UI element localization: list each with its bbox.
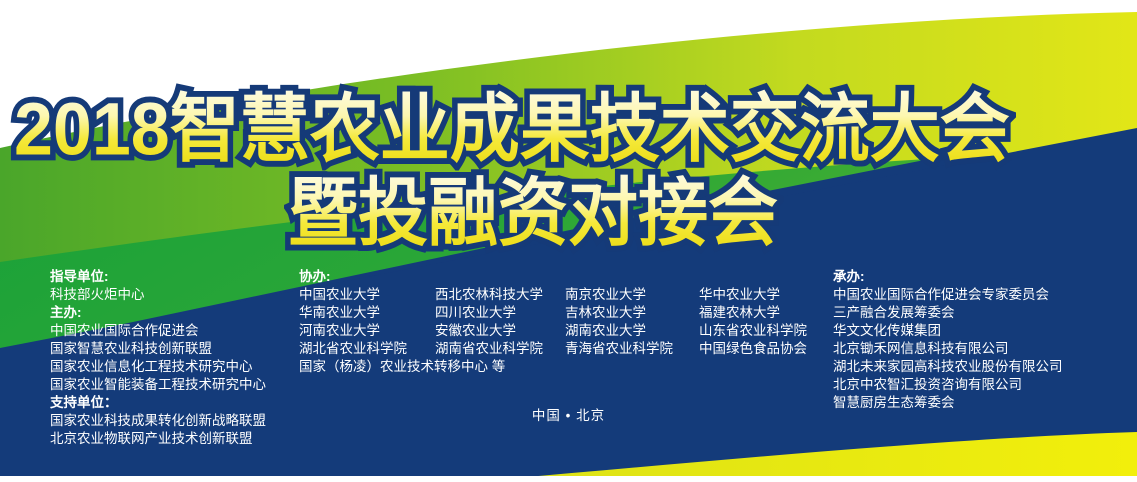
coorganizer-cell: 湖南省农业科学院 <box>435 340 565 358</box>
organizer-item-0: 中国农业国际合作促进会专家委员会 <box>833 286 1063 304</box>
coorganizer-cell: 湖南农业大学 <box>565 322 699 340</box>
coorganizer-cell: 四川农业大学 <box>435 304 565 322</box>
host-item-2: 国家农业信息化工程技术研究中心 <box>50 358 266 376</box>
organizer-item-3: 北京锄禾网信息科技有限公司 <box>833 340 1063 358</box>
coorganizer-cell: 吉林农业大学 <box>565 304 699 322</box>
guidance-item-0: 科技部火炬中心 <box>50 286 266 304</box>
coorganizer-row: 中国农业大学 西北农林科技大学 南京农业大学 华中农业大学 <box>299 286 829 304</box>
coorganizer-cell: 河南农业大学 <box>299 322 435 340</box>
coorganizer-cell: 国家（杨凌）农业技术转移中心 等 <box>299 358 505 376</box>
organizer-item-2: 华文文化传媒集团 <box>833 322 1063 340</box>
coorganizer-cell: 华中农业大学 <box>699 286 829 304</box>
conference-banner: 2018智慧农业成果技术交流大会 2018智慧农业成果技术交流大会 暨投融资对接… <box>0 0 1137 482</box>
host-heading: 主办: <box>50 304 266 322</box>
coorganizer-row: 河南农业大学 安徽农业大学 湖南农业大学 山东省农业科学院 <box>299 322 829 340</box>
host-item-0: 中国农业国际合作促进会 <box>50 322 266 340</box>
coorganizer-column: 协办: 中国农业大学 西北农林科技大学 南京农业大学 华中农业大学 华南农业大学… <box>299 268 829 376</box>
organizer-item-4: 湖北未来家园高科技农业股份有限公司 <box>833 358 1063 376</box>
coorganizer-row-last: 国家（杨凌）农业技术转移中心 等 <box>299 358 829 376</box>
coorganizer-cell: 华南农业大学 <box>299 304 435 322</box>
coorganizer-row: 湖北省农业科学院 湖南省农业科学院 青海省农业科学院 中国绿色食品协会 <box>299 340 829 358</box>
coorganizer-cell: 南京农业大学 <box>565 286 699 304</box>
coorganizer-cell: 湖北省农业科学院 <box>299 340 435 358</box>
host-item-3: 国家农业智能装备工程技术研究中心 <box>50 376 266 394</box>
coorganizer-row: 华南农业大学 四川农业大学 吉林农业大学 福建农林大学 <box>299 304 829 322</box>
coorganizer-cell: 福建农林大学 <box>699 304 829 322</box>
coorganizer-cell: 山东省农业科学院 <box>699 322 829 340</box>
coorganizer-heading: 协办: <box>299 268 829 286</box>
coorganizer-cell: 中国绿色食品协会 <box>699 340 829 358</box>
organizer-item-1: 三产融合发展筹委会 <box>833 304 1063 322</box>
bottom-white-strip <box>0 476 1137 482</box>
coorganizer-cell: 西北农林科技大学 <box>435 286 565 304</box>
guidance-heading: 指导单位: <box>50 268 266 286</box>
organizer-item-5: 北京中农智汇投资咨询有限公司 <box>833 376 1063 394</box>
coorganizer-cell: 安徽农业大学 <box>435 322 565 340</box>
coorganizer-cell: 中国农业大学 <box>299 286 435 304</box>
organizer-column: 承办: 中国农业国际合作促进会专家委员会 三产融合发展筹委会 华文文化传媒集团 … <box>833 268 1063 412</box>
coorganizer-cell: 青海省农业科学院 <box>565 340 699 358</box>
support-item-1: 北京农业物联网产业技术创新联盟 <box>50 430 266 448</box>
event-location: 中国 • 北京 <box>0 404 1137 424</box>
host-item-1: 国家智慧农业科技创新联盟 <box>50 340 266 358</box>
organizer-heading: 承办: <box>833 268 1063 286</box>
